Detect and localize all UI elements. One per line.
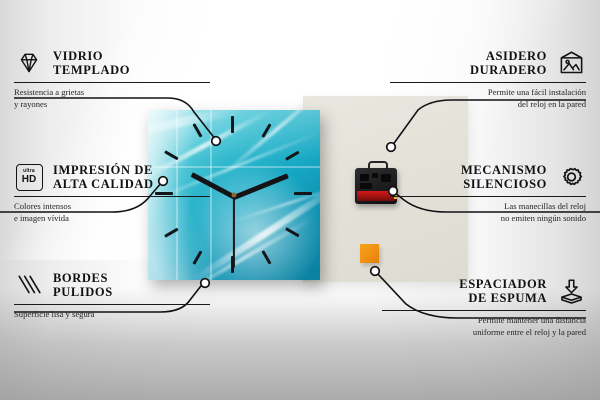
- polished-edges-icon: [14, 270, 44, 300]
- badge-hd-label: HD: [22, 175, 36, 185]
- feature-vidrio-templado[interactable]: VIDRIO TEMPLADO Resistencia a grietas y …: [14, 48, 210, 110]
- feature-divider: [390, 196, 586, 197]
- foam-spacer-icon: [556, 276, 586, 306]
- clock-second-hand: [233, 196, 235, 268]
- feature-divider: [14, 196, 210, 197]
- feature-title: IMPRESIÓN DE ALTA CALIDAD: [53, 163, 154, 192]
- feature-title: BORDES PULIDOS: [53, 271, 113, 300]
- feature-heading: MECANISMO SILENCIOSO: [390, 162, 586, 192]
- feature-asidero-duradero[interactable]: ASIDERO DURADERO Permite una fácil insta…: [390, 48, 586, 110]
- glass-reflection-line: [210, 110, 212, 280]
- feature-divider: [14, 304, 210, 305]
- picture-frame-icon: [556, 48, 586, 78]
- clock-tick-12: [231, 116, 234, 133]
- feature-description: Permite una fácil instalación del reloj …: [390, 87, 586, 110]
- feature-description: Las manecillas del reloj no emiten ningú…: [390, 201, 586, 224]
- feature-heading: ultra HD IMPRESIÓN DE ALTA CALIDAD: [14, 162, 210, 192]
- feature-title: MECANISMO SILENCIOSO: [461, 163, 547, 192]
- feature-description: Superficie lisa y segura: [14, 309, 210, 321]
- mechanism-detail: [372, 173, 378, 178]
- feature-divider: [14, 82, 210, 83]
- clock-tick-3: [294, 192, 312, 195]
- feature-heading: BORDES PULIDOS: [14, 270, 210, 300]
- feature-divider: [382, 310, 586, 311]
- feature-description: Colores intensos e imagen vívida: [14, 201, 210, 224]
- feature-description: Permite mantener una distancia uniforme …: [382, 315, 586, 338]
- feature-heading: ASIDERO DURADERO: [390, 48, 586, 78]
- diamond-icon: [14, 48, 44, 78]
- clock-center-hub: [232, 193, 237, 198]
- feature-mecanismo-silencioso[interactable]: MECANISMO SILENCIOSO Las manecillas del …: [390, 162, 586, 224]
- ultra-hd-badge-icon: ultra HD: [14, 162, 44, 192]
- feature-title: ESPACIADOR DE ESPUMA: [459, 277, 547, 306]
- feature-divider: [390, 82, 586, 83]
- feature-title: VIDRIO TEMPLADO: [53, 49, 130, 78]
- feature-title: ASIDERO DURADERO: [470, 49, 547, 78]
- feature-bordes-pulidos[interactable]: BORDES PULIDOS Superficie lisa y segura: [14, 270, 210, 321]
- mechanism-detail: [360, 183, 372, 189]
- feature-impresion-alta-calidad[interactable]: ultra HD IMPRESIÓN DE ALTA CALIDAD Color…: [14, 162, 210, 224]
- foam-spacer-piece: [360, 244, 379, 263]
- feature-espaciador-espuma[interactable]: ESPACIADOR DE ESPUMA Permite mantener un…: [382, 276, 586, 338]
- feature-heading: ESPACIADOR DE ESPUMA: [382, 276, 586, 306]
- feature-heading: VIDRIO TEMPLADO: [14, 48, 210, 78]
- gear-icon: [556, 162, 586, 192]
- mechanism-shaft: [368, 161, 388, 171]
- mechanism-detail: [360, 174, 369, 181]
- infographic-canvas: VIDRIO TEMPLADO Resistencia a grietas y …: [0, 0, 600, 400]
- feature-description: Resistencia a grietas y rayones: [14, 87, 210, 110]
